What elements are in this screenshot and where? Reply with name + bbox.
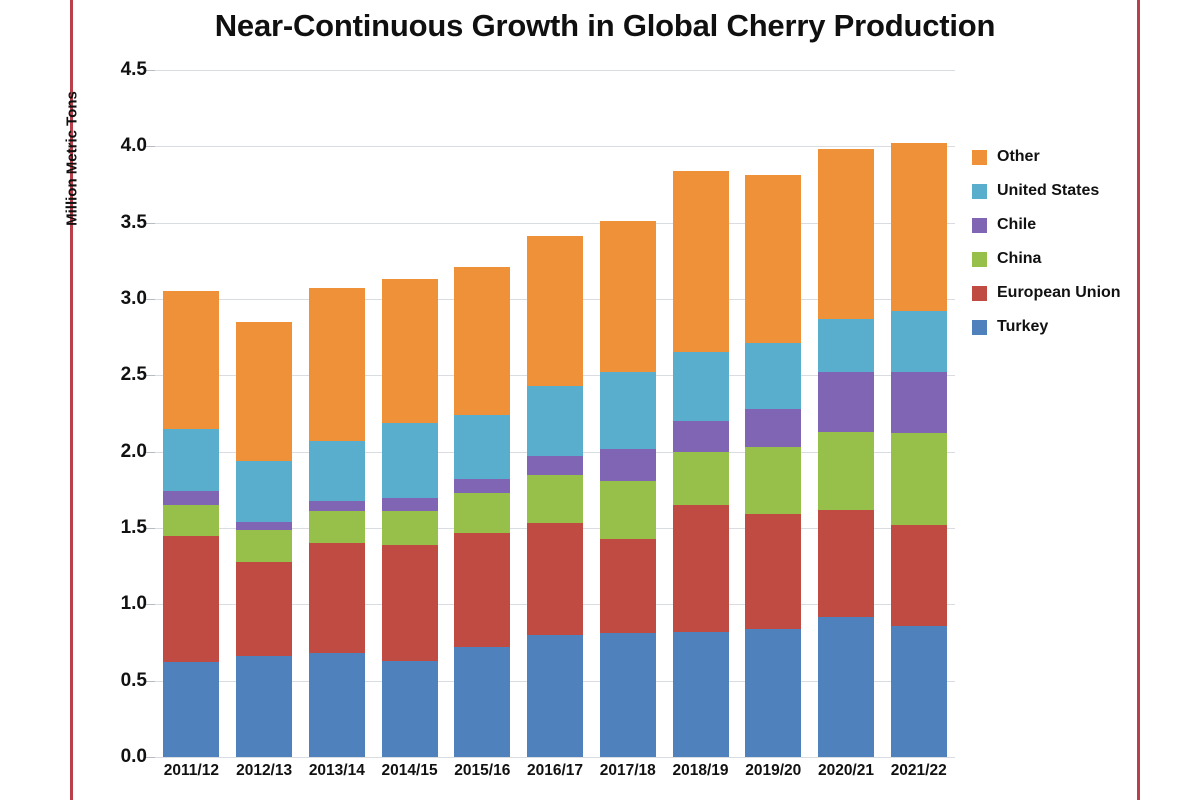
- y-axis-tick-label: 4.5: [67, 59, 147, 81]
- bar-segment[interactable]: [236, 322, 292, 461]
- y-axis-tick-label: 1.0: [67, 593, 147, 615]
- bar-segment[interactable]: [309, 441, 365, 501]
- bar-segment[interactable]: [382, 279, 438, 423]
- page-title: Near-Continuous Growth in Global Cherry …: [130, 8, 1080, 44]
- legend-swatch-icon: [972, 150, 987, 165]
- bar-segment[interactable]: [745, 514, 801, 629]
- y-axis-tick-label: 2.5: [67, 364, 147, 386]
- bar-segment[interactable]: [163, 662, 219, 757]
- bar-group[interactable]: [591, 70, 664, 757]
- legend-swatch-icon: [972, 252, 987, 267]
- y-axis-tick-label: 3.0: [67, 288, 147, 310]
- bar-segment[interactable]: [382, 423, 438, 498]
- bar-segment[interactable]: [818, 372, 874, 432]
- bar-group[interactable]: [228, 70, 301, 757]
- legend-item-label: China: [997, 250, 1041, 268]
- chart-page: Near-Continuous Growth in Global Cherry …: [0, 0, 1200, 800]
- bar-group[interactable]: [373, 70, 446, 757]
- bar-group[interactable]: [664, 70, 737, 757]
- bar-segment[interactable]: [673, 632, 729, 757]
- legend-item[interactable]: China: [972, 242, 1172, 276]
- bar-segment[interactable]: [600, 481, 656, 539]
- bar-segment[interactable]: [382, 545, 438, 661]
- y-axis-tick-mark: [146, 223, 155, 224]
- bar-segment[interactable]: [236, 656, 292, 757]
- x-axis-tick-label: 2021/22: [882, 762, 955, 794]
- bar-segment[interactable]: [600, 372, 656, 448]
- y-axis-tick-label: 0.5: [67, 670, 147, 692]
- bar-segment[interactable]: [454, 493, 510, 533]
- bar-segment[interactable]: [236, 562, 292, 657]
- x-axis-tick-label: 2015/16: [446, 762, 519, 794]
- y-axis-tick-label: 3.5: [67, 212, 147, 234]
- bar-segment[interactable]: [891, 433, 947, 525]
- y-axis-tick-label: 4.0: [67, 135, 147, 157]
- bar-segment[interactable]: [891, 626, 947, 757]
- bar-segment[interactable]: [163, 291, 219, 428]
- bar-group[interactable]: [446, 70, 519, 757]
- y-axis-tick-label: 1.5: [67, 517, 147, 539]
- y-axis-tick-mark: [146, 299, 155, 300]
- bar-segment[interactable]: [309, 543, 365, 653]
- legend-item[interactable]: Other: [972, 140, 1172, 174]
- bar-segment[interactable]: [818, 617, 874, 757]
- bar-segment[interactable]: [236, 461, 292, 522]
- bar-segment[interactable]: [236, 522, 292, 530]
- x-axis-tick-label: 2019/20: [737, 762, 810, 794]
- bar-segment[interactable]: [454, 533, 510, 648]
- bar-segment[interactable]: [382, 498, 438, 512]
- bar-segment[interactable]: [454, 479, 510, 493]
- bar-segment[interactable]: [600, 221, 656, 372]
- bar-segment[interactable]: [527, 386, 583, 456]
- bar-segment[interactable]: [236, 530, 292, 562]
- bar-segment[interactable]: [891, 525, 947, 626]
- bar-segment[interactable]: [527, 635, 583, 757]
- x-axis-tick-label: 2011/12: [155, 762, 228, 794]
- legend-swatch-icon: [972, 184, 987, 199]
- plot-area: 4.54.03.53.02.52.01.51.00.50.0: [155, 70, 955, 757]
- legend-item-label: Chile: [997, 216, 1036, 234]
- bar-group[interactable]: [519, 70, 592, 757]
- bar-group[interactable]: [882, 70, 955, 757]
- bar-segment[interactable]: [163, 536, 219, 663]
- y-axis-tick-mark: [146, 70, 155, 71]
- bar-segment[interactable]: [818, 510, 874, 617]
- bar-segment[interactable]: [673, 505, 729, 632]
- legend: OtherUnited StatesChileChinaEuropean Uni…: [972, 140, 1172, 344]
- bar-segment[interactable]: [163, 429, 219, 492]
- bar-segment[interactable]: [745, 629, 801, 757]
- bar-segment[interactable]: [163, 491, 219, 505]
- bar-segment[interactable]: [382, 661, 438, 757]
- legend-swatch-icon: [972, 218, 987, 233]
- x-axis-tick-label: 2018/19: [664, 762, 737, 794]
- bar-segment[interactable]: [745, 343, 801, 409]
- y-axis-tick-mark: [146, 452, 155, 453]
- legend-item-label: Other: [997, 148, 1040, 166]
- bar-segment[interactable]: [527, 475, 583, 524]
- y-axis-tick-mark: [146, 528, 155, 529]
- bar-segment[interactable]: [163, 505, 219, 536]
- y-axis-tick-mark: [146, 375, 155, 376]
- bar-segment[interactable]: [309, 501, 365, 512]
- bar-segment[interactable]: [527, 523, 583, 634]
- gridline: [155, 757, 955, 758]
- y-axis-tick-mark: [146, 757, 155, 758]
- x-axis-tick-label: 2014/15: [373, 762, 446, 794]
- bar-segment[interactable]: [891, 143, 947, 311]
- x-axis-tick-label: 2012/13: [228, 762, 301, 794]
- y-axis-tick-mark: [146, 681, 155, 682]
- bar-group[interactable]: [737, 70, 810, 757]
- bar-segment[interactable]: [527, 456, 583, 474]
- x-axis-tick-label: 2016/17: [519, 762, 592, 794]
- x-axis-tick-label: 2020/21: [810, 762, 883, 794]
- bar-segment[interactable]: [382, 511, 438, 545]
- bar-group[interactable]: [155, 70, 228, 757]
- legend-item[interactable]: Turkey: [972, 310, 1172, 344]
- legend-item[interactable]: Chile: [972, 208, 1172, 242]
- bar-segment[interactable]: [745, 175, 801, 343]
- bar-segment[interactable]: [309, 511, 365, 543]
- bar-segment[interactable]: [309, 288, 365, 441]
- bar-segment[interactable]: [891, 372, 947, 433]
- x-axis-tick-label: 2017/18: [591, 762, 664, 794]
- bar-segment[interactable]: [673, 452, 729, 505]
- legend-item-label: European Union: [997, 284, 1121, 302]
- bar-segment[interactable]: [600, 449, 656, 481]
- bar-segment[interactable]: [818, 149, 874, 318]
- bar-segment[interactable]: [600, 539, 656, 634]
- x-axis-tick-label: 2013/14: [300, 762, 373, 794]
- y-axis-tick-label: 2.0: [67, 441, 147, 463]
- bar-segment[interactable]: [600, 633, 656, 757]
- legend-item[interactable]: European Union: [972, 276, 1172, 310]
- legend-item[interactable]: United States: [972, 174, 1172, 208]
- bar-segment[interactable]: [673, 421, 729, 452]
- bar-segment[interactable]: [818, 319, 874, 372]
- bar-segment[interactable]: [745, 447, 801, 514]
- frame-rule-right: [1137, 0, 1140, 800]
- bar-segment[interactable]: [309, 653, 365, 757]
- bar-segment[interactable]: [745, 409, 801, 447]
- bar-segment[interactable]: [891, 311, 947, 372]
- legend-swatch-icon: [972, 286, 987, 301]
- bar-segment[interactable]: [454, 267, 510, 415]
- x-axis-labels: 2011/122012/132013/142014/152015/162016/…: [155, 762, 955, 794]
- y-axis-tick-mark: [146, 146, 155, 147]
- bar-group[interactable]: [810, 70, 883, 757]
- bar-segment[interactable]: [818, 432, 874, 510]
- bar-segment[interactable]: [673, 352, 729, 421]
- legend-item-label: Turkey: [997, 318, 1048, 336]
- bar-segment[interactable]: [454, 415, 510, 479]
- bar-segment[interactable]: [673, 171, 729, 353]
- bar-segment[interactable]: [454, 647, 510, 757]
- y-axis-tick-label: 0.0: [67, 746, 147, 768]
- bar-series-container: [155, 70, 955, 757]
- bar-segment[interactable]: [527, 236, 583, 386]
- bar-group[interactable]: [300, 70, 373, 757]
- y-axis-tick-mark: [146, 604, 155, 605]
- legend-swatch-icon: [972, 320, 987, 335]
- legend-item-label: United States: [997, 182, 1099, 200]
